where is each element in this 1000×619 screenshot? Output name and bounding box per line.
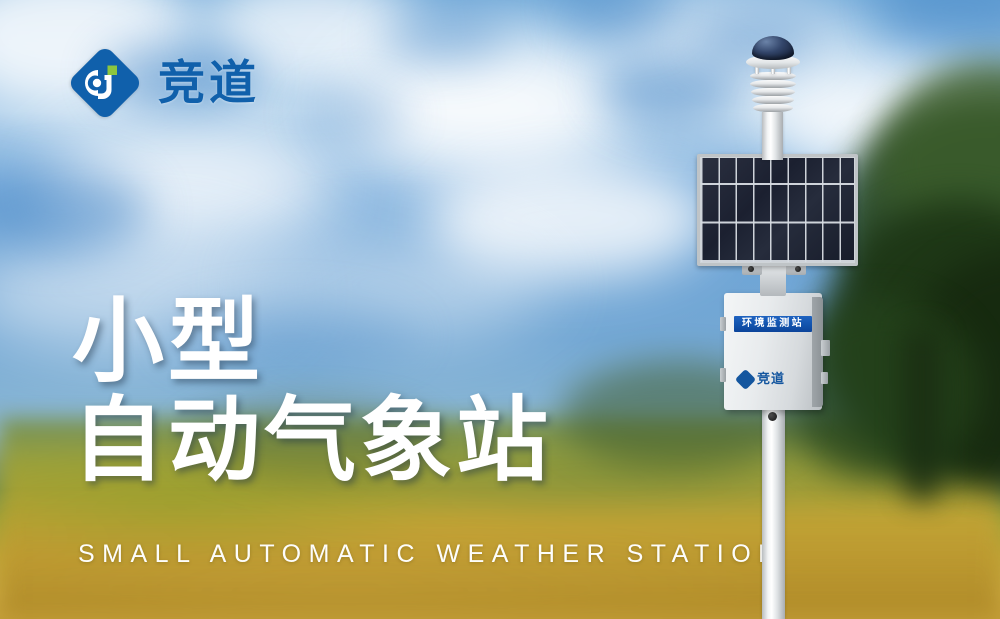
- distant-tree-line: [560, 360, 800, 470]
- logo-glyph-icon: [68, 46, 142, 120]
- brand-name: 竞道: [158, 60, 260, 107]
- subtitle-text: SMALL AUTOMATIC WEATHER STATION: [78, 540, 784, 569]
- product-banner: 竞道 小型 自动气象站 SMALL AUTOMATIC WEATHER STAT…: [0, 0, 1000, 619]
- headline-block: 小型 自动气象站: [72, 292, 552, 491]
- tree-foliage: [780, 300, 980, 480]
- tree-trunk: [905, 330, 939, 500]
- jingdao-diamond-logo-icon: [68, 46, 142, 120]
- headline-line-2: 自动气象站: [72, 391, 552, 490]
- cloud-shadow-blob: [690, 10, 820, 70]
- cloud-shadow-blob: [380, 10, 510, 65]
- headline-line-1: 小型: [72, 292, 552, 391]
- cloud-shadow-blob: [600, 55, 740, 125]
- brand-logo[interactable]: 竞道: [68, 46, 260, 120]
- cloud-shadow-blob: [300, 90, 410, 140]
